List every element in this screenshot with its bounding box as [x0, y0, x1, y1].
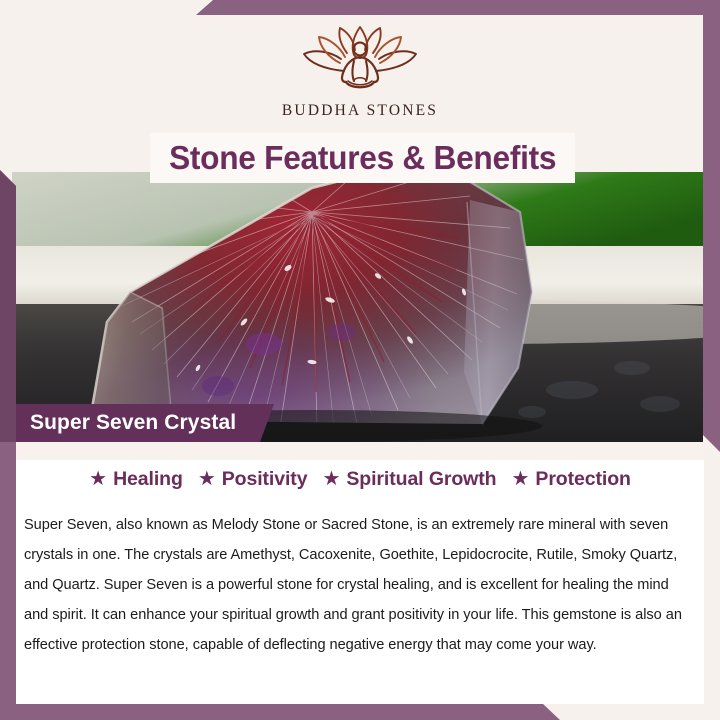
frame-band-bottom	[0, 704, 720, 720]
hero-caption-text: Super Seven Crystal	[30, 411, 236, 435]
frame-band-left-shadow	[0, 170, 16, 442]
hero-photo	[12, 172, 703, 442]
frame-band-right	[703, 0, 720, 452]
page-title-text: Stone Features & Benefits	[169, 139, 556, 177]
benefit-item-protection: ★ Protection	[511, 468, 630, 491]
benefit-item-positivity: ★ Positivity	[198, 468, 308, 491]
star-icon: ★	[198, 469, 216, 489]
infographic-page: BUDDHA STONES Stone Features & Benefits	[0, 0, 720, 720]
brand-name: BUDDHA STONES	[282, 102, 438, 120]
lotus-meditation-logo-icon	[284, 23, 436, 99]
star-icon: ★	[511, 469, 529, 489]
header: BUDDHA STONES Stone Features & Benefits	[0, 15, 720, 172]
benefit-label: Protection	[535, 468, 630, 491]
benefit-label: Positivity	[222, 468, 308, 491]
star-icon: ★	[89, 469, 107, 489]
brand-logo: BUDDHA STONES	[0, 23, 720, 120]
star-icon: ★	[322, 469, 340, 489]
benefit-item-spiritual-growth: ★ Spiritual Growth	[322, 468, 496, 491]
page-title: Stone Features & Benefits	[150, 133, 575, 183]
hero-caption-banner: Super Seven Crystal	[12, 404, 274, 442]
content-panel: ★ Healing ★ Positivity ★ Spiritual Growt…	[16, 442, 704, 704]
description-text: Super Seven, also known as Melody Stone …	[24, 510, 696, 660]
benefit-label: Spiritual Growth	[346, 468, 496, 491]
super-seven-crystal-image	[12, 172, 703, 442]
benefit-label: Healing	[113, 468, 183, 491]
benefits-row: ★ Healing ★ Positivity ★ Spiritual Growt…	[16, 468, 704, 491]
frame-band-top	[0, 0, 720, 15]
content-top-fade	[16, 442, 704, 460]
benefit-item-healing: ★ Healing	[89, 468, 183, 491]
